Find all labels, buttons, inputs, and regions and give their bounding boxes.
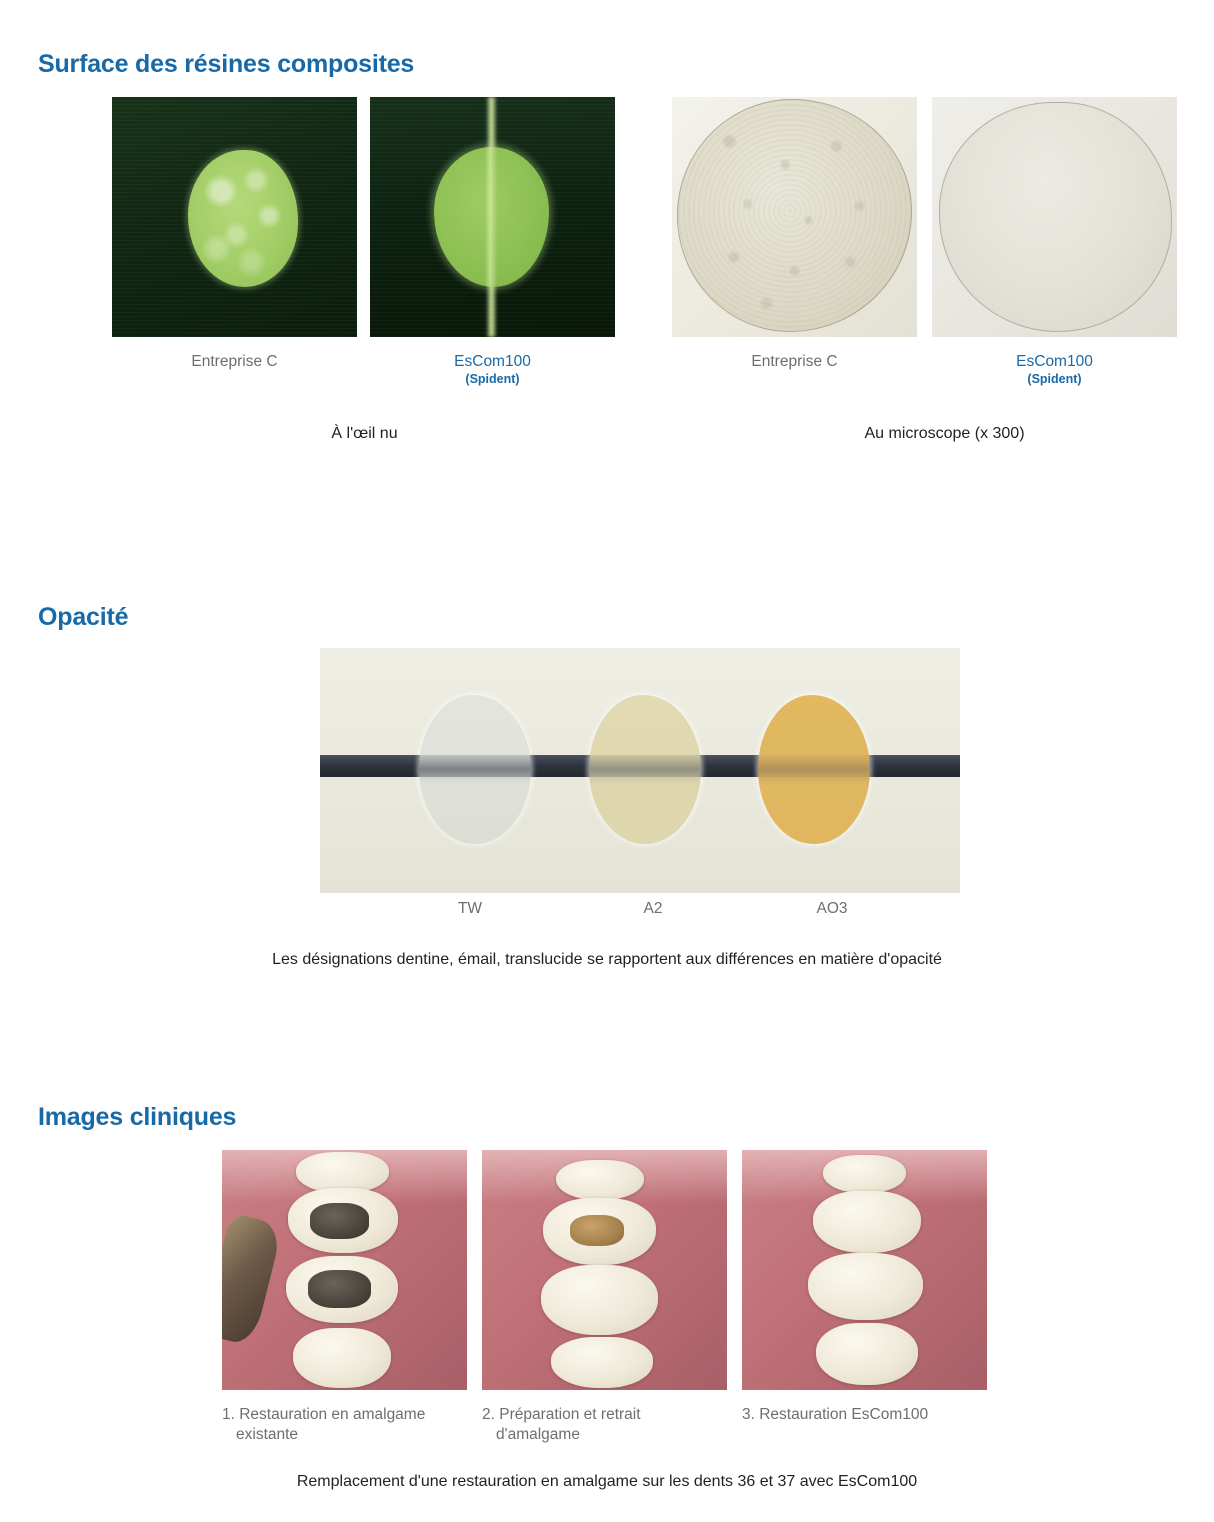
section-heading-clinical: Images cliniques <box>38 1103 236 1132</box>
photo-label-entreprise-c-1: Entreprise C <box>112 353 357 371</box>
amalgam-filling <box>308 1270 372 1308</box>
tooth <box>556 1160 644 1201</box>
tooth <box>823 1155 906 1193</box>
section-heading-surface: Surface des résines composites <box>38 50 414 79</box>
composite-disc-mottled <box>188 150 298 287</box>
tooth <box>816 1323 919 1385</box>
photo-clinical-escom100-restoration <box>742 1150 987 1390</box>
photo-sublabel-spident-1: (Spident) <box>370 372 615 386</box>
opacity-disc-tw <box>419 695 531 844</box>
opacity-caption: Les désignations dentine, émail, translu… <box>0 951 1214 969</box>
photo-label-escom100-2: EsCom100 <box>932 353 1177 371</box>
photo-surface-microscope-entreprise-c <box>672 97 917 337</box>
photo-sublabel-spident-2: (Spident) <box>932 372 1177 386</box>
prepared-cavity <box>570 1215 624 1246</box>
shade-label-a2: A2 <box>593 900 713 918</box>
tooth <box>293 1328 391 1388</box>
opacity-disc-ao3 <box>758 695 870 844</box>
shade-label-ao3: AO3 <box>772 900 892 918</box>
photo-clinical-existing-amalgam <box>222 1150 467 1390</box>
photo-label-entreprise-c-2: Entreprise C <box>672 353 917 371</box>
photo-surface-microscope-escom100 <box>932 97 1177 337</box>
photo-surface-naked-eye-escom100 <box>370 97 615 337</box>
photo-opacity-strip <box>320 648 960 893</box>
tooth <box>808 1253 923 1320</box>
photo-label-escom100-1: EsCom100 <box>370 353 615 371</box>
composite-disc-smooth-surface <box>939 102 1172 332</box>
clinical-caption-3: 3. Restauration EsCom100 <box>742 1405 1001 1425</box>
clinical-footer-caption: Remplacement d'une restauration en amalg… <box>0 1473 1214 1491</box>
tooth <box>551 1337 654 1387</box>
clinical-caption-1: 1. Restauration en amalgame existante <box>222 1405 471 1445</box>
tooth <box>813 1191 921 1253</box>
amalgam-filling <box>310 1203 369 1239</box>
photo-clinical-preparation <box>482 1150 727 1390</box>
tooth <box>296 1152 389 1193</box>
shade-label-tw: TW <box>410 900 530 918</box>
photo-surface-naked-eye-entreprise-c <box>112 97 357 337</box>
group-caption-microscope: Au microscope (x 300) <box>822 425 1067 443</box>
clinical-caption-2: 2. Préparation et retrait d'amalgame <box>482 1405 721 1445</box>
section-heading-opacity: Opacité <box>38 603 128 632</box>
tooth <box>541 1265 659 1335</box>
opacity-disc-a2 <box>589 695 701 844</box>
group-caption-naked-eye: À l'œil nu <box>242 425 487 443</box>
